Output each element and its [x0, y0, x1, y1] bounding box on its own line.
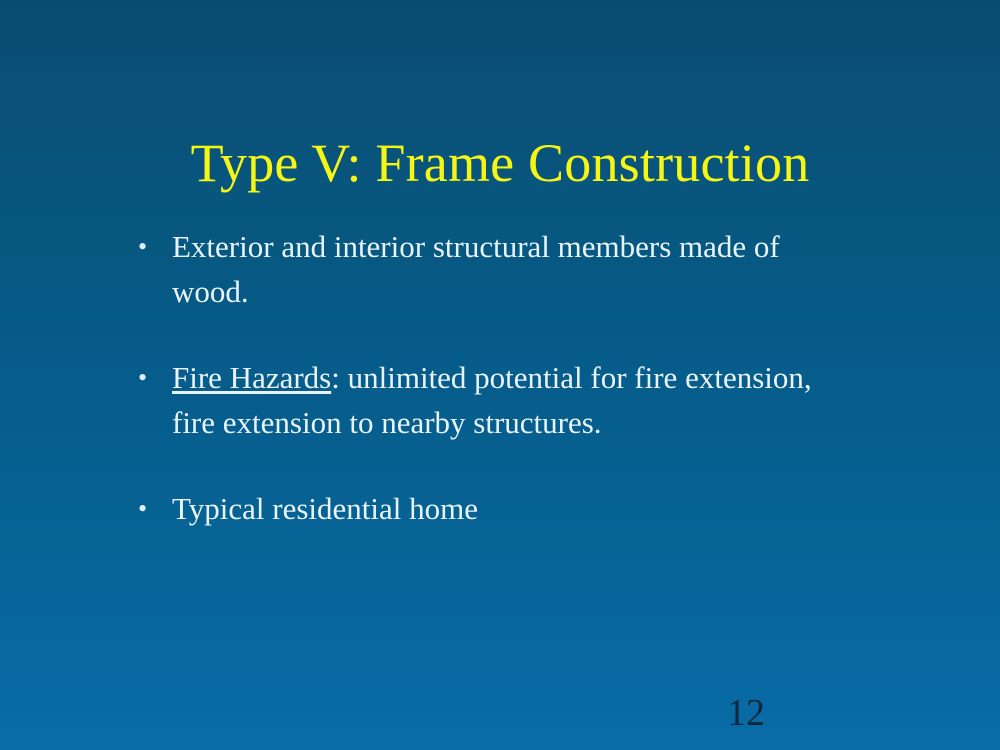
- bullet-point-icon: •: [138, 355, 172, 400]
- presentation-slide: Type V: Frame Construction • Exterior an…: [0, 0, 1000, 750]
- bullet-point-icon: •: [138, 224, 172, 269]
- bullet-lead-term: Fire Hazards: [172, 360, 331, 395]
- bullet-body-text: Exterior and interior structural members…: [172, 229, 780, 309]
- slide-page-number: 12: [716, 691, 776, 735]
- bullet-body-text: Typical residential home: [172, 491, 478, 526]
- bullet-text: Fire Hazards: unlimited potential for fi…: [172, 355, 832, 445]
- slide-title-area: Type V: Frame Construction: [0, 96, 1000, 230]
- bullet-text: Exterior and interior structural members…: [172, 224, 832, 314]
- page-title: Type V: Frame Construction: [191, 132, 810, 194]
- bullet-text: Typical residential home: [172, 486, 832, 531]
- slide-body: • Exterior and interior structural membe…: [138, 224, 878, 531]
- bullet-point-icon: •: [138, 486, 172, 531]
- bullet-item-typical-residential-home: • Typical residential home: [138, 486, 878, 531]
- bullet-item-fire-hazards: • Fire Hazards: unlimited potential for …: [138, 355, 878, 445]
- bullet-item-structural-members: • Exterior and interior structural membe…: [138, 224, 878, 314]
